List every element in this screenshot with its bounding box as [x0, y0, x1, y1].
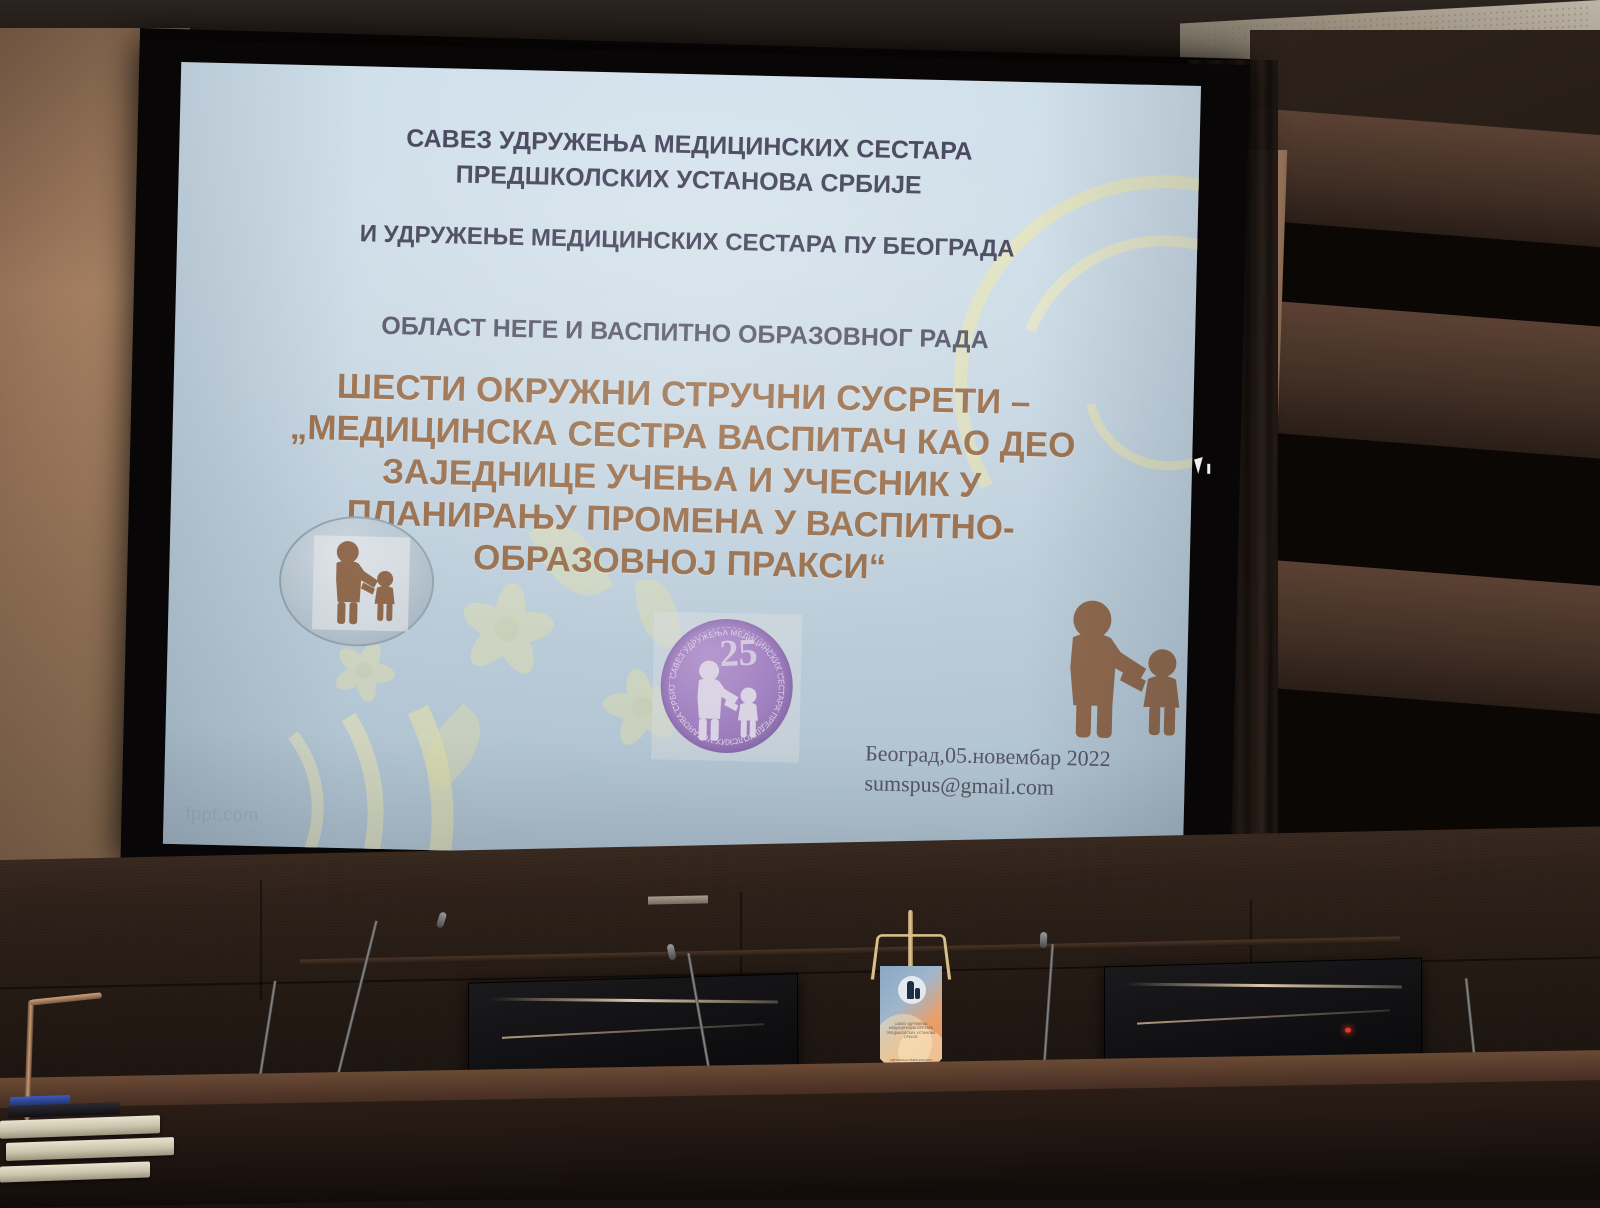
stacked-documents — [0, 1118, 170, 1188]
document-3 — [0, 1161, 150, 1182]
projected-slide: САВЕЗ УДРУЖЕЊА МЕДИЦИНСКИХ СЕСТАРА ПРЕДШ… — [163, 62, 1201, 868]
screen-brand-label — [648, 895, 708, 904]
wall-panel-lit-3 — [1272, 560, 1600, 714]
emblem-figures-icon — [681, 660, 775, 748]
slide-email: sumspus@gmail.com — [864, 768, 1185, 806]
wall-panel-lit-2 — [1262, 300, 1600, 459]
document-1 — [0, 1115, 160, 1139]
pennant-text-line-1: САВЕЗ УДРУЖЕЊА МЕДИЦИНСКИХ СЕСТАРА ПРЕДШ… — [886, 1022, 936, 1040]
adult-child-silhouette-right-icon — [1046, 599, 1201, 743]
monitor-glint — [1124, 983, 1402, 989]
projection-screen: САВЕЗ УДРУЖЕЊА МЕДИЦИНСКИХ СЕСТАРА ПРЕДШ… — [120, 39, 1249, 885]
pennant-emblem-icon — [898, 976, 926, 1004]
monitor-glint — [489, 998, 778, 1004]
slide-watermark: fppt.com — [185, 803, 259, 826]
monitor-glint-2 — [502, 1023, 764, 1039]
slide-association-line: И УДРУЖЕЊЕ МЕДИЦИНСКИХ СЕСТАРА ПУ БЕОГРА… — [177, 212, 1198, 271]
power-led-indicator — [1345, 1027, 1351, 1032]
document-2 — [6, 1137, 174, 1161]
wall-seam-vertical-1 — [260, 880, 262, 1000]
monitor-glint-2 — [1137, 1009, 1390, 1024]
conference-room-scene: САВЕЗ УДРУЖЕЊА МЕДИЦИНСКИХ СЕСТАРА ПРЕДШ… — [0, 0, 1600, 1200]
adult-child-silhouette-icon — [318, 539, 406, 629]
slide-contact-block: Београд,05.новембар 2022 sumspus@gmail.c… — [864, 738, 1185, 806]
anniversary-emblem: САВЕЗ УДРУЖЕЊА МЕДИЦИНСКИХ СЕСТАРА ПРЕДШ… — [651, 611, 802, 762]
slide-field-line: ОБЛАСТ НЕГЕ И ВАСПИТНО ОБРАЗОВНОГ РАДА — [175, 304, 1196, 363]
